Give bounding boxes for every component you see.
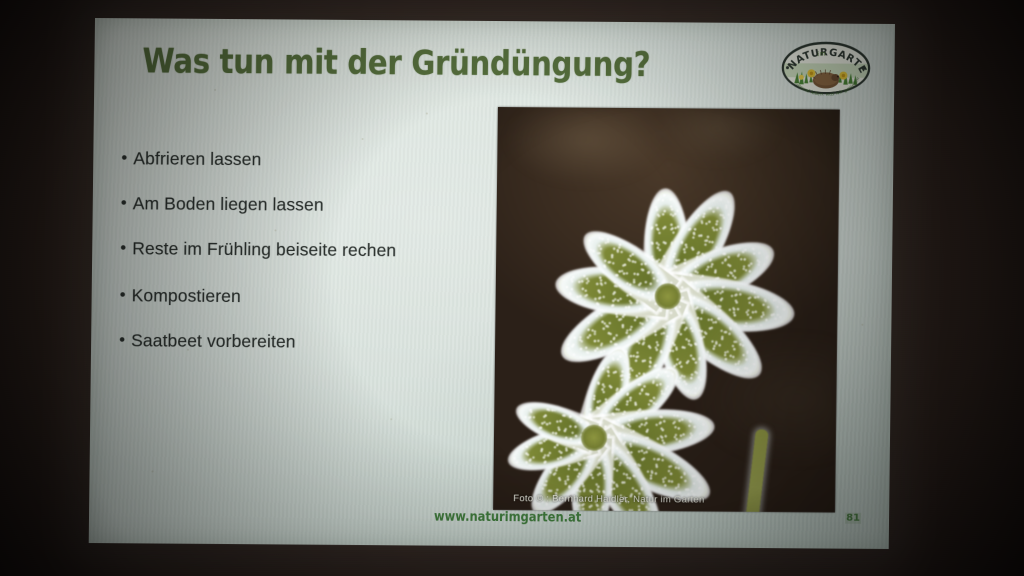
slide-canvas: Was tun mit der Gründüngung? bbox=[89, 18, 895, 549]
slide-title: Was tun mit der Gründüngung? bbox=[142, 41, 650, 85]
natur-im-garten-logo: NATUR im GARTEN Gesund leben, was wir ge… bbox=[779, 40, 873, 96]
list-item: • Abfrieren lassen bbox=[115, 146, 505, 173]
list-item: • Kompostieren bbox=[114, 283, 504, 310]
leaf-rosette-center bbox=[581, 425, 607, 451]
bullet-text: Kompostieren bbox=[132, 283, 241, 308]
bullet-marker: • bbox=[115, 191, 133, 214]
list-item: • Am Boden liegen lassen bbox=[115, 191, 505, 218]
list-item: • Reste im Frühling beiseite rechen bbox=[114, 236, 504, 263]
slide-page-number: 81 bbox=[845, 513, 861, 524]
footer-website-url: www.naturimgarten.at bbox=[434, 509, 581, 526]
bullet-marker: • bbox=[114, 236, 132, 259]
bullet-marker: • bbox=[113, 328, 131, 351]
list-item: • Saatbeet vorbereiten bbox=[113, 328, 503, 355]
bullet-marker: • bbox=[115, 146, 133, 169]
bullet-list: • Abfrieren lassen • Am Boden liegen las… bbox=[113, 146, 506, 376]
svg-text:im: im bbox=[817, 49, 826, 58]
projected-slide: Was tun mit der Gründüngung? bbox=[89, 18, 895, 549]
bullet-text: Saatbeet vorbereiten bbox=[131, 328, 296, 353]
bullet-text: Abfrieren lassen bbox=[133, 146, 261, 171]
slide-photo-frost-leaves: Foto © : Bernhard Haidler, Natur im Gart… bbox=[493, 107, 840, 513]
bullet-text: Am Boden liegen lassen bbox=[133, 191, 324, 216]
bullet-text: Reste im Frühling beiseite rechen bbox=[132, 236, 396, 262]
bullet-marker: • bbox=[114, 283, 132, 306]
leaf-rosette-center bbox=[655, 283, 681, 309]
photo-caption: Foto © : Bernhard Haidler, Natur im Gart… bbox=[513, 493, 704, 505]
